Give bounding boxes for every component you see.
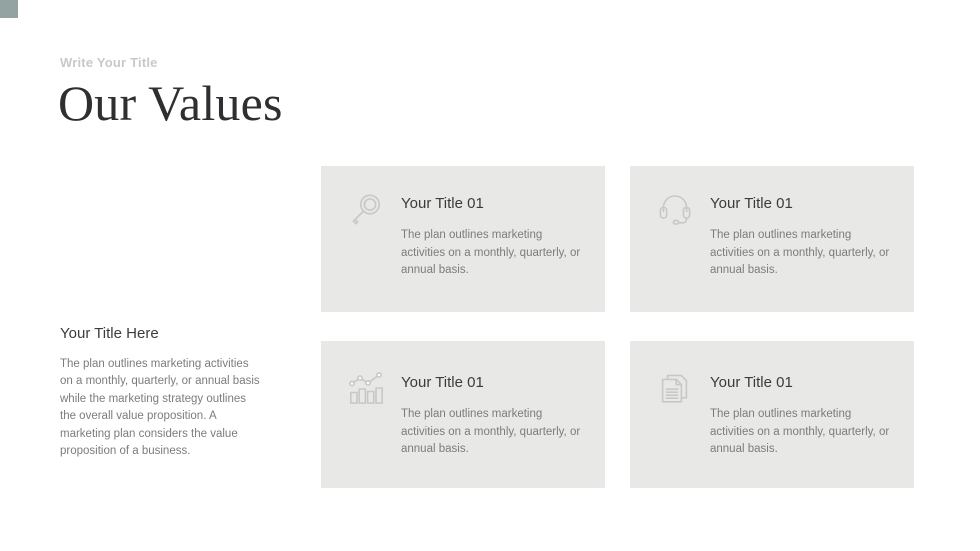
intro-block: Your Title Here The plan outlines market… xyxy=(60,323,260,460)
headset-icon xyxy=(658,190,702,230)
bar-chart-line-icon xyxy=(349,369,393,409)
intro-title: Your Title Here xyxy=(60,323,260,345)
card-body: The plan outlines marketing activities o… xyxy=(710,227,890,280)
card-body: The plan outlines marketing activities o… xyxy=(401,406,581,459)
card-title: Your Title 01 xyxy=(401,373,581,393)
card-title: Your Title 01 xyxy=(710,194,890,214)
card-title: Your Title 01 xyxy=(710,373,890,393)
feature-card[interactable]: Your Title 01 The plan outlines marketin… xyxy=(630,341,914,488)
documents-icon xyxy=(658,369,702,409)
card-body: The plan outlines marketing activities o… xyxy=(401,227,581,280)
feature-card[interactable]: Your Title 01 The plan outlines marketin… xyxy=(321,341,605,488)
magnifier-icon xyxy=(349,190,393,230)
corner-marker xyxy=(0,0,18,18)
card-body: The plan outlines marketing activities o… xyxy=(710,406,890,459)
feature-card[interactable]: Your Title 01 The plan outlines marketin… xyxy=(630,166,914,312)
intro-body: The plan outlines marketing activities o… xyxy=(60,356,260,460)
eyebrow-label: Write Your Title xyxy=(60,54,158,72)
card-title: Your Title 01 xyxy=(401,194,581,214)
slide-canvas: Write Your Title Our Values Your Title H… xyxy=(0,0,980,551)
feature-card[interactable]: Your Title 01 The plan outlines marketin… xyxy=(321,166,605,312)
page-title: Our Values xyxy=(58,74,283,132)
